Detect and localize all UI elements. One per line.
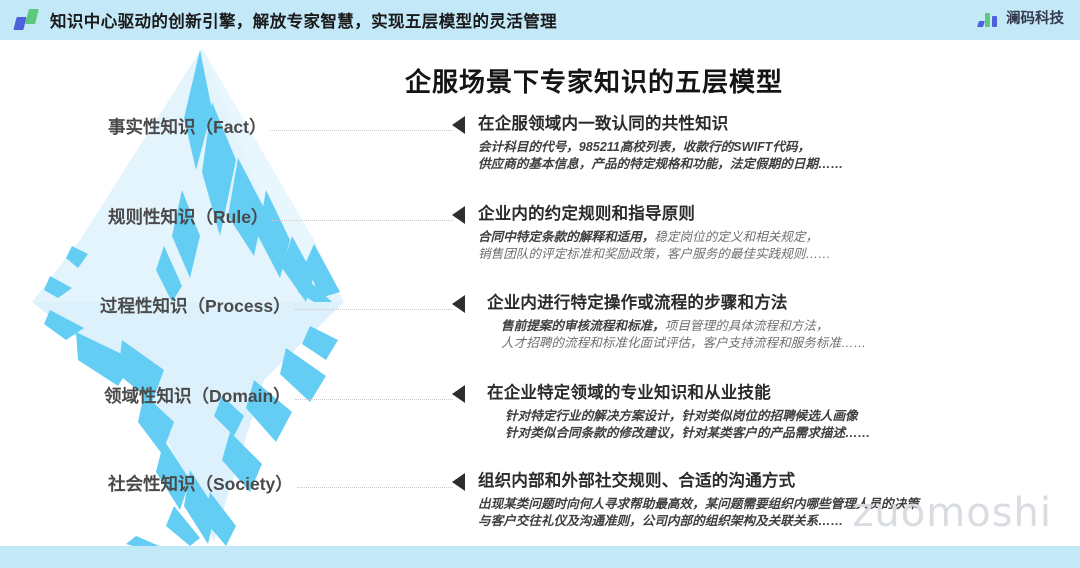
logo-shape-green (25, 9, 39, 24)
slide-canvas: 知识中心驱动的创新引擎，解放专家智慧，实现五层模型的灵活管理 澜码科技 (0, 0, 1080, 568)
layer-label-group: 规则性知识（Rule） (0, 203, 455, 229)
layer-headline: 企业内的约定规则和指导原则 (478, 200, 1078, 224)
brand-bar-2 (985, 13, 990, 27)
detail-emphasis: 合同中特定条款的解释和适用， (478, 230, 654, 244)
layer-label: 事实性知识（Fact） (108, 114, 266, 139)
layer-detail: 合同中特定条款的解释和适用，稳定岗位的定义和相关规定， 销售团队的评定标准和奖励… (478, 229, 1078, 262)
detail-emphasis: 与客户交往礼仪及沟通准则，公司内部的组织架构及关联关系…… (478, 514, 843, 528)
layer-row-domain: 领域性知识（Domain） 在企业特定领域的专业知识和从业技能 针对特定行业的解… (0, 382, 1080, 470)
brand-lockup: 澜码科技 (978, 11, 1064, 27)
arrow-left-icon (452, 116, 465, 134)
layer-content: 在企服领域内一致认同的共性知识 会计科目的代号，985211高校列表，收款行的S… (478, 110, 1078, 172)
detail-emphasis: 针对类似合同条款的修改建议，针对某类客户的产品需求描述…… (505, 426, 870, 440)
leader-line (272, 220, 453, 221)
logo-mark-icon (14, 8, 40, 32)
brand-bar-3 (992, 16, 997, 27)
brand-bars-icon (978, 11, 1000, 27)
layer-headline: 组织内部和外部社交规则、合适的沟通方式 (478, 467, 1078, 491)
leader-line (295, 309, 453, 310)
layer-label-group: 领域性知识（Domain） (0, 382, 455, 408)
layer-content: 企业内的约定规则和指导原则 合同中特定条款的解释和适用，稳定岗位的定义和相关规定… (478, 200, 1078, 262)
layer-detail: 售前提案的审核流程和标准，项目管理的具体流程和方法， 人才招聘的流程和标准化面试… (501, 318, 1080, 351)
leader-line (270, 130, 453, 131)
detail-emphasis: 售前提案的审核流程和标准， (501, 319, 665, 333)
detail-emphasis: 供应商的基本信息，产品的特定规格和功能，法定假期的日期…… (478, 157, 843, 171)
layer-headline: 在企业特定领域的专业知识和从业技能 (487, 379, 1080, 403)
detail-emphasis: 针对特定行业的解决方案设计，针对类似岗位的招聘候选人画像 (505, 409, 858, 423)
layer-content: 在企业特定领域的专业知识和从业技能 针对特定行业的解决方案设计，针对类似岗位的招… (487, 379, 1080, 441)
detail-rest: 项目管理的具体流程和方法， (665, 319, 829, 333)
layer-label: 领域性知识（Domain） (104, 383, 291, 408)
layer-label: 过程性知识（Process） (100, 293, 291, 318)
layer-headline: 企业内进行特定操作或流程的步骤和方法 (487, 289, 1080, 313)
layer-detail: 针对特定行业的解决方案设计，针对类似岗位的招聘候选人画像 针对类似合同条款的修改… (505, 408, 1080, 441)
layer-content: 企业内进行特定操作或流程的步骤和方法 售前提案的审核流程和标准，项目管理的具体流… (487, 289, 1080, 351)
layer-row-process: 过程性知识（Process） 企业内进行特定操作或流程的步骤和方法 售前提案的审… (0, 292, 1080, 380)
arrow-left-icon (452, 206, 465, 224)
brand-bar-1 (977, 21, 985, 27)
watermark-text: zuomoshi (852, 490, 1052, 536)
layer-label-group: 过程性知识（Process） (0, 292, 455, 318)
leader-line (295, 399, 453, 400)
page-title: 企服场景下专家知识的五层模型 (0, 62, 1080, 99)
layer-row-rule: 规则性知识（Rule） 企业内的约定规则和指导原则 合同中特定条款的解释和适用，… (0, 203, 1080, 291)
layer-label-group: 社会性知识（Society） (0, 470, 455, 496)
footer-bar (0, 546, 1080, 568)
leader-line (297, 487, 453, 488)
layer-detail: 会计科目的代号，985211高校列表，收款行的SWIFT代码， 供应商的基本信息… (478, 139, 1078, 172)
arrow-left-icon (452, 295, 465, 313)
arrow-left-icon (452, 473, 465, 491)
layer-label: 社会性知识（Society） (108, 471, 293, 496)
detail-rest: 人才招聘的流程和标准化面试评估，客户支持流程和服务标准…… (501, 336, 866, 350)
brand-name: 澜码科技 (1006, 11, 1064, 27)
detail-rest: 销售团队的评定标准和奖励政策，客户服务的最佳实践规则…… (478, 247, 831, 261)
layer-label-group: 事实性知识（Fact） (0, 113, 455, 139)
layer-row-fact: 事实性知识（Fact） 在企服领域内一致认同的共性知识 会计科目的代号，9852… (0, 113, 1080, 201)
layer-label: 规则性知识（Rule） (108, 204, 268, 229)
header-title: 知识中心驱动的创新引擎，解放专家智慧，实现五层模型的灵活管理 (50, 8, 557, 32)
detail-rest: 稳定岗位的定义和相关规定， (654, 230, 818, 244)
detail-emphasis: 会计科目的代号，985211高校列表，收款行的SWIFT代码， (478, 140, 810, 154)
layer-headline: 在企服领域内一致认同的共性知识 (478, 110, 1078, 134)
header-bar: 知识中心驱动的创新引擎，解放专家智慧，实现五层模型的灵活管理 (0, 0, 1080, 40)
arrow-left-icon (452, 385, 465, 403)
